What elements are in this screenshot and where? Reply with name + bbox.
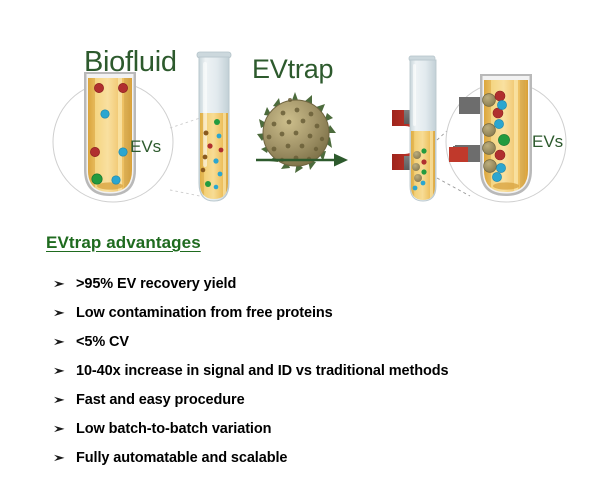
evs-label-right: EVs <box>532 133 563 150</box>
arrow-bullet-icon <box>53 364 66 377</box>
arrow-bullet-icon <box>53 306 66 319</box>
list-item: Fast and easy procedure <box>0 385 600 414</box>
advantages-section: EVtrap advantages >95% EV recovery yield… <box>0 225 600 500</box>
workflow-graphics <box>0 0 600 225</box>
biofluid-label: Biofluid <box>84 48 177 77</box>
arrow-bullet-icon <box>53 422 66 435</box>
list-item-label: <5% CV <box>76 334 129 350</box>
list-item: Low contamination from free proteins <box>0 298 600 327</box>
list-item-label: Low contamination from free proteins <box>76 305 333 321</box>
middle-tube-group <box>197 52 231 203</box>
arrow-bullet-icon <box>53 277 66 290</box>
arrow-bullet-icon <box>53 335 66 348</box>
list-item-label: >95% EV recovery yield <box>76 276 236 292</box>
evs-label-left: EVs <box>130 138 161 155</box>
list-item: >95% EV recovery yield <box>0 269 600 298</box>
evtrap-label: EVtrap <box>252 56 333 83</box>
evtrap-workflow-diagram: Biofluid EVtrap EVs EVs <box>0 0 600 225</box>
list-item-label: Fast and easy procedure <box>76 392 245 408</box>
arrow-bullet-icon <box>53 393 66 406</box>
left-connector-lines <box>170 118 200 196</box>
list-item-label: Low batch-to-batch variation <box>76 421 271 437</box>
right-tube-group <box>409 56 436 206</box>
advantages-heading: EVtrap advantages <box>46 233 201 253</box>
list-item: 10-40x increase in signal and ID vs trad… <box>0 356 600 385</box>
arrow-bullet-icon <box>53 451 66 464</box>
list-item-label: Fully automatable and scalable <box>76 450 287 466</box>
list-item: <5% CV <box>0 327 600 356</box>
advantages-list: >95% EV recovery yield Low contamination… <box>0 269 600 472</box>
list-item-label: 10-40x increase in signal and ID vs trad… <box>76 363 448 379</box>
slide-canvas: Biofluid EVtrap EVs EVs EVtrap advantage… <box>0 0 600 500</box>
list-item: Low batch-to-batch variation <box>0 414 600 443</box>
list-item: Fully automatable and scalable <box>0 443 600 472</box>
